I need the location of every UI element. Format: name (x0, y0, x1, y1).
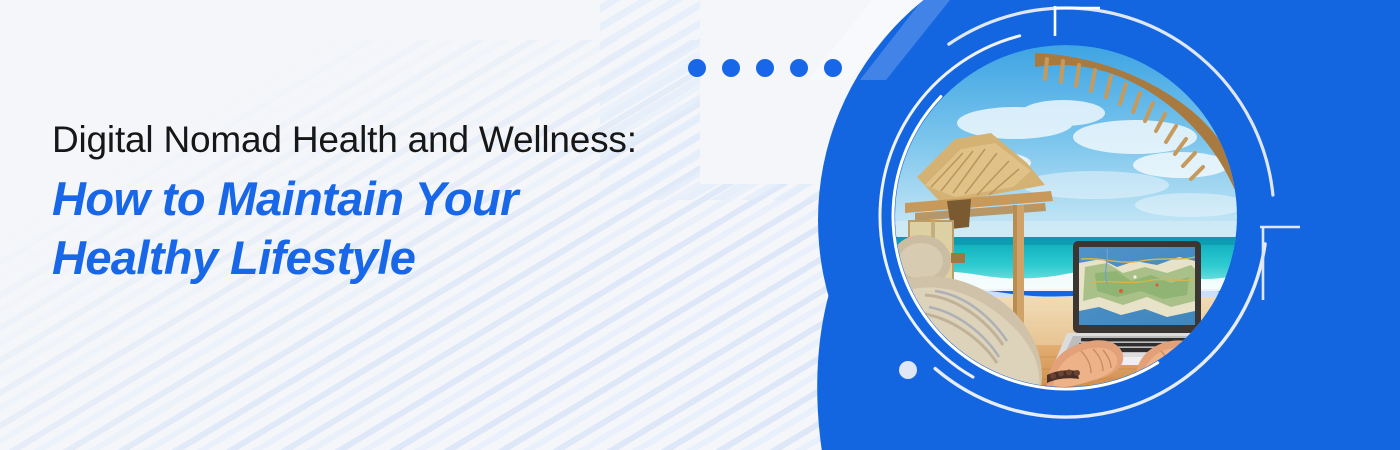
dot-icon-4 (790, 59, 808, 77)
dot-icon-3 (756, 59, 774, 77)
banner-root: Digital Nomad Health and Wellness: How t… (0, 0, 1400, 450)
headline-title-line-2: Healthy Lifestyle (52, 228, 812, 287)
dot-icon-2 (722, 59, 740, 77)
headline-eyebrow: Digital Nomad Health and Wellness: (52, 118, 812, 162)
dot-row (688, 59, 842, 77)
laptop-screen-map (1079, 247, 1195, 325)
hero-photo (895, 45, 1237, 387)
dot-icon-5 (824, 59, 842, 77)
headline-title-line-1: How to Maintain Your (52, 169, 812, 228)
headline-block: Digital Nomad Health and Wellness: How t… (52, 118, 812, 287)
dot-icon-1 (688, 59, 706, 77)
